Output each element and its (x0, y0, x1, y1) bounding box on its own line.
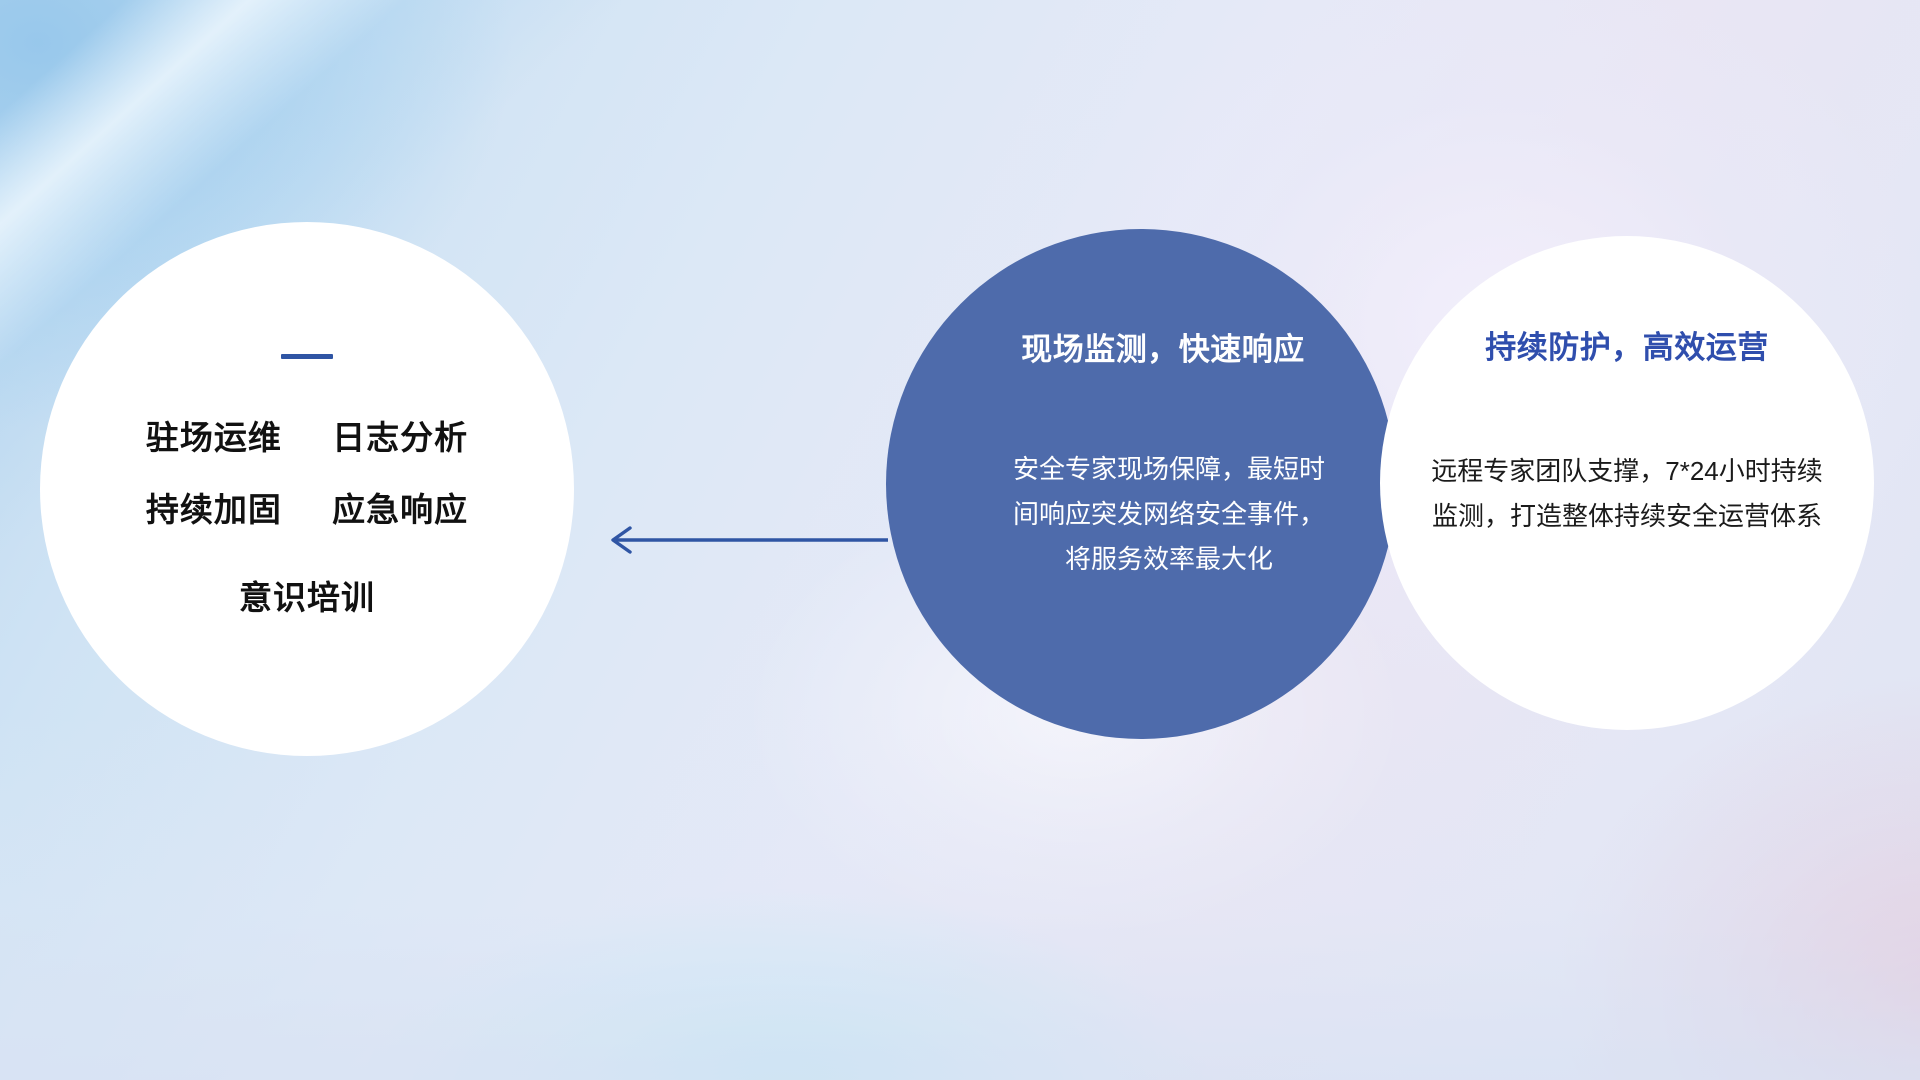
blue-circle-content: 现场监测，快速响应 安全专家现场保障，最短时间响应突发网络安全事件，将服务效率最… (886, 229, 1396, 739)
divider-line-icon (281, 354, 333, 359)
onsite-monitoring-circle[interactable]: 现场监测，快速响应 安全专家现场保障，最短时间响应突发网络安全事件，将服务效率最… (886, 229, 1396, 739)
slide-canvas: 驻场运维 日志分析 持续加固 应急响应 意识培训 现场监测，快速响应 安全专家现… (0, 0, 1920, 1080)
right-circle-heading: 持续防护，高效运营 (1485, 322, 1769, 367)
capability-tag-log-analysis: 日志分析 (332, 419, 468, 456)
capability-tag-awareness-training: 意识培训 (239, 581, 375, 614)
capability-tag-emergency-response: 应急响应 (332, 491, 468, 528)
left-circle-content: 驻场运维 日志分析 持续加固 应急响应 意识培训 (40, 222, 574, 756)
capability-tag-onsite-ops: 驻场运维 (146, 419, 282, 456)
left-circle-row-1: 驻场运维 日志分析 (146, 421, 468, 454)
right-circle-content: 持续防护，高效运营 远程专家团队支撑，7*24小时持续监测，打造整体持续安全运营… (1380, 236, 1874, 730)
blue-circle-body-text: 安全专家现场保障，最短时间响应突发网络安全事件，将服务效率最大化 (1004, 447, 1334, 582)
capability-tag-continuous-hardening: 持续加固 (146, 491, 282, 528)
blue-circle-heading: 现场监测，快速响应 (1021, 324, 1305, 369)
continuous-protection-circle[interactable]: 持续防护，高效运营 远程专家团队支撑，7*24小时持续监测，打造整体持续安全运营… (1380, 236, 1874, 730)
left-pointing-arrow-icon (600, 520, 890, 560)
left-capability-circle[interactable]: 驻场运维 日志分析 持续加固 应急响应 意识培训 (40, 222, 574, 756)
right-circle-body-text: 远程专家团队支撑，7*24小时持续监测，打造整体持续安全运营体系 (1427, 449, 1827, 539)
left-circle-row-2: 持续加固 应急响应 (146, 493, 468, 526)
